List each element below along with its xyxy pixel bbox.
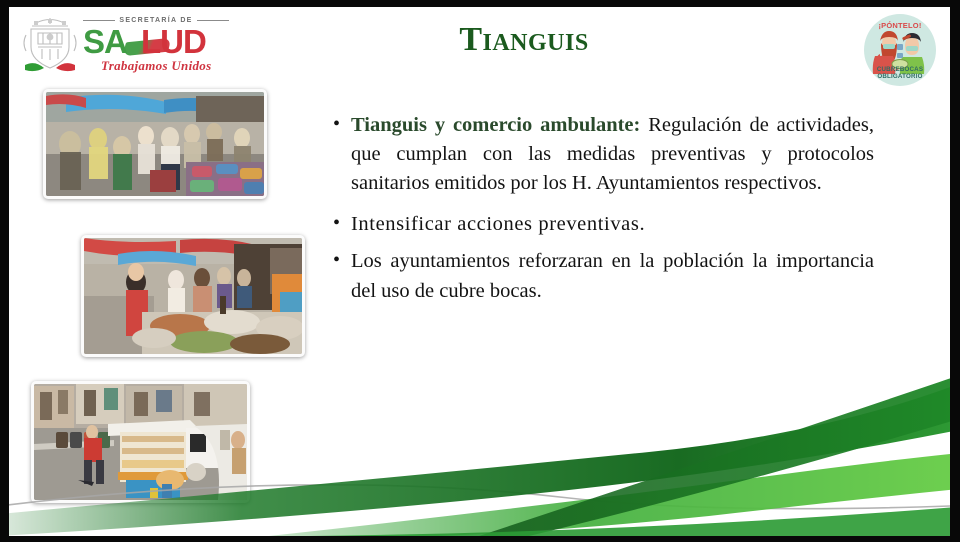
ribbon-bright <box>269 452 950 536</box>
rule-left <box>83 20 115 21</box>
bullet-body-ayuntamientos: Los ayuntamientos reforzaran en la pobla… <box>351 250 874 301</box>
bullet-lead-tianguis-comercio: Tianguis y comercio ambulante: <box>351 114 640 136</box>
bullet-list: Tianguis y comercio ambulante: Regulació… <box>330 111 874 312</box>
letterbox-left <box>0 0 9 542</box>
photo-street-cart <box>31 381 250 503</box>
mask-mandate-badge: ¡PÓNTELO! <box>864 14 936 86</box>
letterbox-right <box>950 0 960 542</box>
food-stalls-image <box>84 238 302 354</box>
salud-logo-lockup: SECRETARÍA DE SA LUD Trabajamos Unidos <box>15 11 230 85</box>
salud-green-part: SA <box>83 23 127 61</box>
letterbox-bottom <box>0 536 960 542</box>
video-frame: SECRETARÍA DE SA LUD Trabajamos Unidos T… <box>0 0 960 542</box>
bullet-item-regulacion: Tianguis y comercio ambulante: Regulació… <box>330 111 874 198</box>
badge-bottom-label: CUBREBOCAS OBLIGATORIO <box>864 66 936 82</box>
letterbox-top <box>0 0 960 7</box>
ribbon-deep <box>479 372 950 536</box>
bullet-item-ayuntamientos: Los ayuntamientos reforzaran en la pobla… <box>330 247 874 305</box>
salud-word: SA LUD <box>83 23 229 57</box>
photo-market-crowd <box>43 89 267 199</box>
bullet-body-intensificar: Intensificar acciones preventivas. <box>351 213 645 235</box>
salud-red-part: LUD <box>141 23 206 61</box>
logo-tagline: Trabajamos Unidos <box>101 58 211 74</box>
coat-of-arms-icon <box>19 13 81 79</box>
ribbon-base-band <box>9 506 950 536</box>
salud-wordmark: SECRETARÍA DE SA LUD Trabajamos Unidos <box>83 17 229 79</box>
rule-right <box>197 20 229 21</box>
street-cart-image <box>34 384 247 500</box>
presentation-slide: SECRETARÍA DE SA LUD Trabajamos Unidos T… <box>9 7 950 536</box>
page-title: Tianguis <box>309 21 739 58</box>
market-crowd-image <box>46 92 264 196</box>
badge-top-label: ¡PÓNTELO! <box>864 21 936 30</box>
photo-food-stalls <box>81 235 305 357</box>
bullet-item-intensificar: Intensificar acciones preventivas. <box>330 210 874 239</box>
